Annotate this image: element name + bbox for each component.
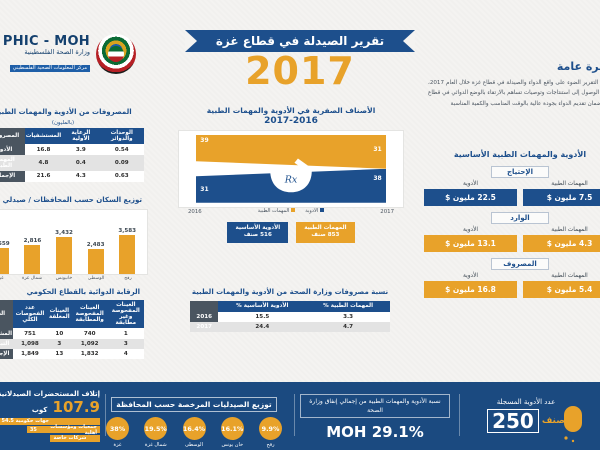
organization-logo: PHIC - MOH وزارة الصحة الفلسطينية مركز ا… bbox=[0, 28, 140, 80]
drug-control-title: الرقابة الدوائية بالقطاع الحكومي bbox=[0, 288, 144, 297]
registered-number: 250 bbox=[487, 409, 539, 433]
bar bbox=[0, 248, 9, 274]
logo-arabic-ministry: وزارة الصحة الفلسطينية bbox=[3, 49, 90, 56]
caption: المهمات الطبية bbox=[523, 273, 600, 279]
col-essential-medicines-pct: الأدوية الأساسية % bbox=[218, 301, 306, 311]
need-medicines: الأدوية 22.5 مليون $ bbox=[424, 181, 517, 206]
moh-spending-value: MOH 29.1% bbox=[300, 423, 450, 441]
zero-items-year-range: 2017-2016 bbox=[178, 116, 404, 126]
need-medical-supplies-value: 7.5 مليون $ bbox=[523, 189, 600, 206]
row-label: التبرعات bbox=[0, 339, 13, 349]
cell: 1,098 bbox=[13, 339, 47, 349]
pharmacy-circle-khanyounis: 16.1% خان يونس bbox=[221, 417, 244, 448]
bottom-summary-bar: إتلاف المستحضرات الصيدلانية 107.9 كوب جه… bbox=[0, 382, 600, 450]
legend-item-supplies: المهمات الطبية bbox=[258, 208, 296, 214]
cell: 1,849 bbox=[13, 349, 47, 359]
governorate-name: خان يونس bbox=[221, 442, 244, 448]
caption: الأدوية bbox=[424, 273, 517, 279]
group-label-need: الإحتياج bbox=[491, 166, 549, 178]
cell: 0.63 bbox=[100, 171, 144, 181]
percent-value: 16.1% bbox=[221, 417, 244, 440]
row-label: المشتريات bbox=[0, 328, 13, 338]
bar bbox=[56, 237, 72, 273]
row-label: الأدوية bbox=[0, 144, 25, 154]
axis-label: خانيونس bbox=[50, 276, 77, 281]
col-expenditures: المصروفات bbox=[0, 128, 25, 144]
cell: 3.9 bbox=[62, 144, 99, 154]
essential-title: الأدوية والمهمات الطبية الأساسية bbox=[424, 150, 600, 160]
caption: المهمات الطبية bbox=[523, 181, 600, 187]
badge-label: الأدوية الأساسية bbox=[235, 225, 280, 233]
col-units: الوحدات والدوائر bbox=[100, 128, 144, 144]
pharmacies-distribution-section: توزيع الصيدليات المرخصة حسب المحافظة 9.9… bbox=[106, 392, 282, 448]
legend-label: المهمات الطبية bbox=[258, 208, 290, 214]
bar-label: جمعيات ومؤسسات أهلية bbox=[39, 424, 97, 436]
bar-value: 3,432 bbox=[55, 230, 73, 236]
bar-value: 3,583 bbox=[118, 228, 136, 234]
row-label: الإجمالي bbox=[0, 349, 13, 359]
need-medical-supplies: المهمات الطبية 7.5 مليون $ bbox=[523, 181, 600, 206]
value-supplies-2017: 31 bbox=[373, 146, 381, 153]
incoming-medical-supplies: المهمات الطبية 4.3 مليون $ bbox=[523, 227, 600, 252]
col-conforming: العينات المفحوصة والمطابقة bbox=[72, 300, 108, 329]
governorate-name: غزة bbox=[106, 442, 129, 448]
report-year: 2017 bbox=[185, 52, 415, 90]
table-row: 3 1,092 3 1,098 التبرعات bbox=[0, 339, 144, 349]
pharmacy-percent-circles: 9.9% رفح 16.1% خان يونس 16.4% الوسطى 19.… bbox=[106, 417, 282, 448]
bar-value: 2,483 bbox=[87, 242, 105, 248]
col-hospitals: المستشفيات bbox=[25, 128, 62, 144]
overview-section: نظرة عامة يسلط التقرير الضوء على واقع ال… bbox=[428, 60, 600, 109]
caption: الأدوية bbox=[424, 227, 517, 233]
mortar-pestle-icon: Rx bbox=[265, 155, 317, 195]
table-row: 1 740 10 751 المشتريات bbox=[0, 328, 144, 338]
row-label: المهمات الطبية bbox=[0, 155, 25, 171]
bar-value: 35 bbox=[30, 427, 37, 433]
disposal-value: 107.9 كوب bbox=[0, 398, 100, 416]
cell: 16.8 bbox=[25, 144, 62, 154]
row-label: 2017 bbox=[190, 322, 218, 332]
bar-value: 54.5 bbox=[2, 418, 14, 424]
cell: 3 bbox=[108, 339, 144, 349]
population-chart-title: توزيع السكان حسب المحافظات / صيدلي bbox=[0, 196, 148, 205]
drug-control-section: الرقابة الدوائية بالقطاع الحكومي العينات… bbox=[0, 288, 144, 359]
population-bar-chart: 3,583 2,483 3,432 2,816 2,559 bbox=[0, 209, 148, 275]
bar-column: 2,816 bbox=[19, 222, 46, 274]
item-count-badges: المهمات الطبية 853 صنف الأدوية الأساسية … bbox=[178, 222, 404, 243]
zero-items-section: الأصناف الصفرية في الأدوية والمهمات الطب… bbox=[178, 106, 404, 243]
axis-label-2017: 2017 bbox=[380, 209, 394, 215]
percent-value: 16.4% bbox=[183, 417, 206, 440]
table-row: 4 1,832 13 1,849 الإجمالي bbox=[0, 349, 144, 359]
bar-column: 3,432 bbox=[51, 222, 78, 274]
bar-label: شركات خاصة bbox=[53, 435, 86, 441]
cell: 24.4 bbox=[218, 322, 306, 332]
moh-spending-title: نسبة الأدوية والمهمات الطبية من إجمالي إ… bbox=[300, 394, 450, 418]
table-row: 0.54 3.9 16.8 الأدوية bbox=[0, 144, 144, 154]
table-row: 0.09 0.4 4.8 المهمات الطبية bbox=[0, 155, 144, 171]
row-label: الإجمالي bbox=[0, 171, 25, 181]
governorate-name: شمال غزة bbox=[144, 442, 167, 448]
cell: 4 bbox=[108, 349, 144, 359]
expenditure-section: المصروفات من الأدوية والمهمات الطبية (با… bbox=[0, 108, 144, 182]
group-label-incoming: الوارد bbox=[491, 212, 549, 224]
logo-english-text: PHIC - MOH bbox=[3, 35, 90, 49]
disposal-title: إتلاف المستحضرات الصيدلانية bbox=[0, 390, 100, 398]
table-header-row: الوحدات والدوائر الرعاية الأولية المستشف… bbox=[0, 128, 144, 144]
svg-text:Rx: Rx bbox=[284, 175, 298, 186]
cell: 751 bbox=[13, 328, 47, 338]
zero-items-title: الأصناف الصفرية في الأدوية والمهمات الطب… bbox=[178, 106, 404, 116]
cell: 740 bbox=[72, 328, 108, 338]
essential-group-incoming: الوارد المهمات الطبية 4.3 مليون $ الأدوي… bbox=[424, 212, 600, 252]
col-total-tests: عدد الفحوصات الكلي bbox=[13, 300, 47, 329]
divider bbox=[294, 394, 295, 436]
pharmacy-circle-rafah: 9.9% رفح bbox=[259, 417, 282, 448]
population-chart-section: توزيع السكان حسب المحافظات / صيدلي 3,583… bbox=[0, 196, 148, 281]
table-row: 3.3 15.5 2016 bbox=[190, 312, 390, 322]
moh-share-section: نسبة مصروفات وزارة الصحة من الأدوية والم… bbox=[190, 288, 390, 332]
col-primary-care: الرعاية الأولية bbox=[62, 128, 99, 144]
cell: 13 bbox=[47, 349, 72, 359]
badge-essential-medicines: الأدوية الأساسية 516 صنف bbox=[227, 222, 288, 243]
essential-medicines-section: الأدوية والمهمات الطبية الأساسية الإحتيا… bbox=[424, 150, 600, 304]
cell: 0.09 bbox=[100, 155, 144, 171]
zero-items-chart: 39 31 31 38 Rx bbox=[178, 130, 404, 208]
col-year bbox=[190, 301, 218, 311]
moh-share-table: المهمات الطبية % الأدوية الأساسية % 3.3 … bbox=[190, 301, 390, 332]
zero-items-legend: الأدوية المهمات الطبية bbox=[178, 208, 404, 214]
population-axis-labels: رفح الوسطى خانيونس شمال غزة غزة bbox=[0, 275, 148, 281]
cell: 15.5 bbox=[218, 312, 306, 322]
bar-value: 2,559 bbox=[0, 241, 10, 247]
cell: 4.8 bbox=[25, 155, 62, 171]
disposal-bar-private: شركات خاصة bbox=[50, 435, 100, 442]
disposal-number: 107.9 bbox=[53, 398, 100, 416]
badge-value: 853 صنف bbox=[304, 232, 346, 240]
drug-control-table: العينات المفحوصة وغير مطابقة العينات الم… bbox=[0, 300, 144, 360]
cell: 10 bbox=[47, 328, 72, 338]
dispensed-medicines-value: 16.8 مليون $ bbox=[424, 281, 517, 298]
axis-label: شمال غزة bbox=[18, 276, 45, 281]
cell: 1 bbox=[108, 328, 144, 338]
col-nonconforming: العينات المفحوصة وغير مطابقة bbox=[108, 300, 144, 329]
registered-drugs-section: عدد الأدوية المسجلة صنف 250 bbox=[462, 398, 590, 433]
registered-drugs-value: صنف 250 bbox=[487, 409, 565, 433]
dispensed-medical-supplies-value: 5.4 مليون $ bbox=[523, 281, 600, 298]
row-label: 2016 bbox=[190, 312, 218, 322]
pharmacy-circle-north-gaza: 19.5% شمال غزة bbox=[144, 417, 167, 448]
percent-value: 38% bbox=[106, 417, 129, 440]
cell: 3.3 bbox=[306, 312, 390, 322]
axis-label-2016: 2016 bbox=[188, 209, 202, 215]
percent-value: 9.9% bbox=[259, 417, 282, 440]
expenditure-subtitle: (بالمليون) bbox=[0, 120, 144, 126]
essential-group-dispensed: المصروف المهمات الطبية 5.4 مليون $ الأدو… bbox=[424, 258, 600, 298]
bar-column: 3,583 bbox=[114, 222, 141, 274]
bar-column: 2,559 bbox=[0, 222, 14, 274]
governorate-name: رفح bbox=[259, 442, 282, 448]
value-medicines-2017: 38 bbox=[373, 175, 381, 182]
badge-label: المهمات الطبية bbox=[304, 225, 346, 233]
legend-label: الأدوية bbox=[305, 208, 318, 214]
caption: المهمات الطبية bbox=[523, 227, 600, 233]
bar-column: 2,483 bbox=[82, 222, 109, 274]
governorate-name: الوسطى bbox=[183, 442, 206, 448]
bar-value: 2,816 bbox=[24, 238, 42, 244]
logo-arabic-center: مركز المعلومات الصحية الفلسطيني bbox=[10, 65, 90, 72]
cell: 3 bbox=[47, 339, 72, 349]
group-label-dispensed: المصروف bbox=[491, 258, 549, 270]
cell: 4.7 bbox=[306, 322, 390, 332]
badge-value: 516 صنف bbox=[235, 232, 280, 240]
cell: 0.54 bbox=[100, 144, 144, 154]
essential-group-need: الإحتياج المهمات الطبية 7.5 مليون $ الأد… bbox=[424, 166, 600, 206]
expenditure-title: المصروفات من الأدوية والمهمات الطبية bbox=[0, 108, 144, 117]
caption: الأدوية bbox=[424, 181, 517, 187]
overview-title: نظرة عامة bbox=[428, 60, 600, 73]
need-medicines-value: 22.5 مليون $ bbox=[424, 189, 517, 206]
disposal-section: إتلاف المستحضرات الصيدلانية 107.9 كوب جه… bbox=[0, 390, 100, 442]
axis-label: الوسطى bbox=[82, 276, 109, 281]
palestine-emblem-icon bbox=[96, 34, 136, 74]
moh-share-title: نسبة مصروفات وزارة الصحة من الأدوية والم… bbox=[190, 288, 390, 297]
disposal-bar-ngo: جمعيات ومؤسسات أهلية 35 bbox=[27, 426, 100, 433]
dispensed-medical-supplies: المهمات الطبية 5.4 مليون $ bbox=[523, 273, 600, 298]
infographic-page: PHIC - MOH وزارة الصحة الفلسطينية مركز ا… bbox=[0, 0, 600, 450]
table-row: 4.7 24.4 2017 bbox=[190, 322, 390, 332]
disposal-unit: كوب bbox=[32, 406, 48, 414]
axis-label: غزة bbox=[0, 276, 14, 281]
dispensed-medicines: الأدوية 16.8 مليون $ bbox=[424, 273, 517, 298]
incoming-medicines: الأدوية 13.1 مليون $ bbox=[424, 227, 517, 252]
divider bbox=[459, 394, 460, 436]
cell: 0.4 bbox=[62, 155, 99, 171]
col-medical-supplies-pct: المهمات الطبية % bbox=[306, 301, 390, 311]
incoming-medicines-value: 13.1 مليون $ bbox=[424, 235, 517, 252]
col-pending: العينات المعلقة bbox=[47, 300, 72, 329]
cell: 21.6 bbox=[25, 171, 62, 181]
table-header-row: العينات المفحوصة وغير مطابقة العينات الم… bbox=[0, 300, 144, 329]
bar bbox=[119, 235, 135, 273]
bar bbox=[88, 249, 104, 274]
overview-body: يسلط التقرير الضوء على واقع الدواء والصي… bbox=[428, 78, 600, 109]
legend-item-medicines: الأدوية bbox=[305, 208, 324, 214]
value-supplies-2016: 39 bbox=[200, 137, 208, 144]
percent-value: 19.5% bbox=[144, 417, 167, 440]
col-sample: العينة bbox=[0, 300, 13, 329]
pharmacies-title: توزيع الصيدليات المرخصة حسب المحافظة bbox=[111, 397, 276, 412]
cell: 1,092 bbox=[72, 339, 108, 349]
pharmacy-circle-middle: 16.4% الوسطى bbox=[183, 417, 206, 448]
capsule-pill-icon bbox=[560, 404, 586, 444]
cell: 1,832 bbox=[72, 349, 108, 359]
badge-medical-supplies: المهمات الطبية 853 صنف bbox=[296, 222, 354, 243]
pharmacy-circle-gaza: 38% غزة bbox=[106, 417, 129, 448]
bar bbox=[24, 245, 40, 274]
value-medicines-2016: 31 bbox=[200, 186, 208, 193]
moh-spending-share-section: نسبة الأدوية والمهمات الطبية من إجمالي إ… bbox=[300, 394, 450, 441]
expenditure-table: الوحدات والدوائر الرعاية الأولية المستشف… bbox=[0, 128, 144, 181]
cell: 4.3 bbox=[62, 171, 99, 181]
table-row: 0.63 4.3 21.6 الإجمالي bbox=[0, 171, 144, 181]
table-header-row: المهمات الطبية % الأدوية الأساسية % bbox=[190, 301, 390, 311]
axis-label: رفح bbox=[114, 276, 141, 281]
incoming-medical-supplies-value: 4.3 مليون $ bbox=[523, 235, 600, 252]
